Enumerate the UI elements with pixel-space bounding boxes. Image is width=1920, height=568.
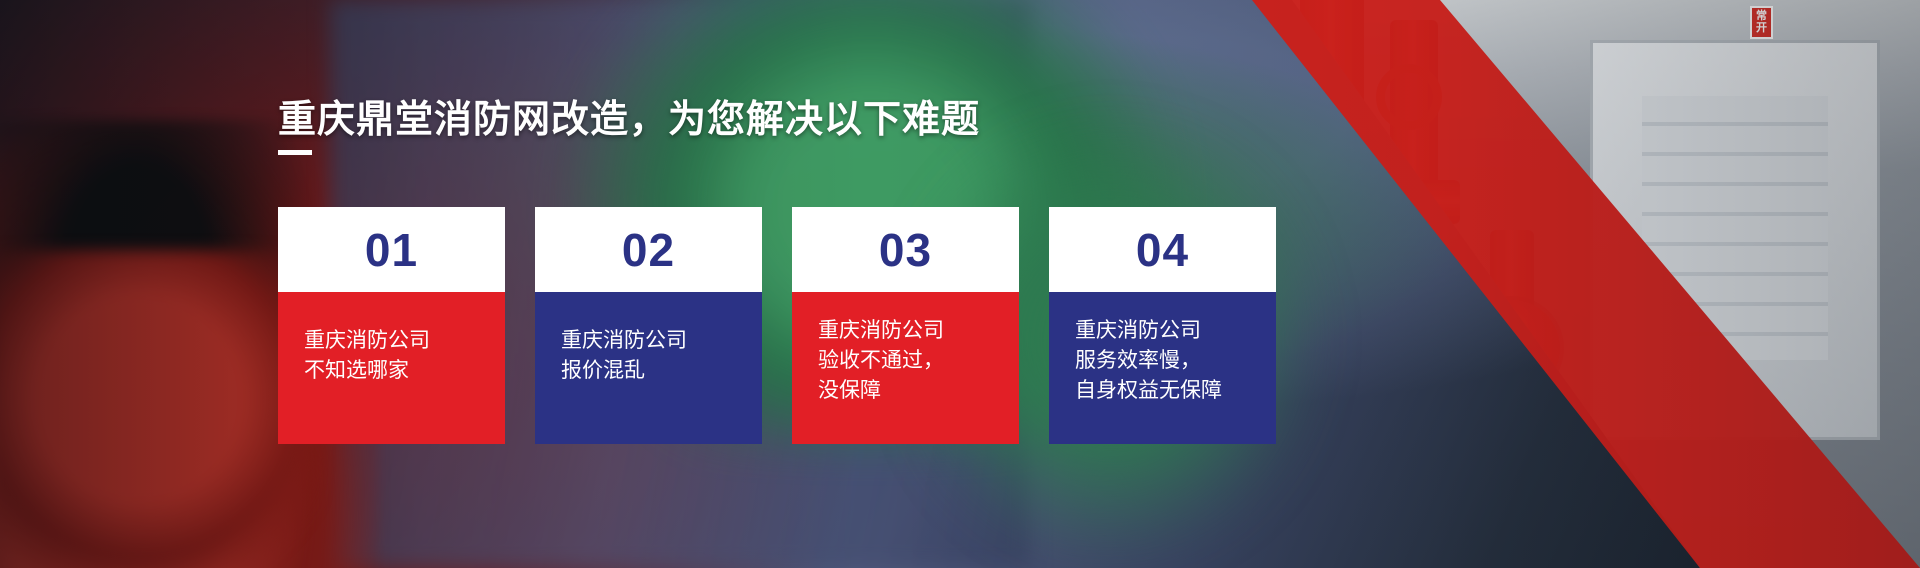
problem-card-number: 02 — [622, 223, 675, 277]
problem-card-line: 重庆消防公司 — [1075, 316, 1250, 346]
promo-banner: 常开 常闭 常闭 重庆鼎堂消防网改造，为您解决以下难题 01 重庆消防公司 不知… — [0, 0, 1920, 568]
problem-card-body: 重庆消防公司 验收不通过， 没保障 — [792, 292, 1019, 444]
problem-card-line: 重庆消防公司 — [818, 316, 993, 346]
problem-card-header: 02 — [535, 207, 762, 292]
problem-card-body: 重庆消防公司 不知选哪家 — [278, 292, 505, 444]
problem-card-line: 验收不通过， — [818, 346, 993, 376]
problem-card-line: 没保障 — [818, 376, 993, 406]
problem-card-number: 04 — [1136, 223, 1189, 277]
problem-card-body: 重庆消防公司 报价混乱 — [535, 292, 762, 444]
problem-card-list: 01 重庆消防公司 不知选哪家 02 重庆消防公司 报价混乱 03 — [278, 207, 1276, 444]
problem-card-line: 服务效率慢， — [1075, 346, 1250, 376]
problem-card-header: 03 — [792, 207, 1019, 292]
problem-card-line: 报价混乱 — [561, 356, 736, 386]
problem-card[interactable]: 04 重庆消防公司 服务效率慢， 自身权益无保障 — [1049, 207, 1276, 444]
problem-card-line: 重庆消防公司 — [561, 326, 736, 356]
problem-card-number: 03 — [879, 223, 932, 277]
headline-underline-rule — [278, 150, 312, 155]
problem-card-line: 不知选哪家 — [304, 356, 479, 386]
problem-card-header: 04 — [1049, 207, 1276, 292]
problem-card[interactable]: 02 重庆消防公司 报价混乱 — [535, 207, 762, 444]
banner-content: 重庆鼎堂消防网改造，为您解决以下难题 01 重庆消防公司 不知选哪家 02 重庆… — [0, 0, 1920, 568]
problem-card-body: 重庆消防公司 服务效率慢， 自身权益无保障 — [1049, 292, 1276, 444]
problem-card-header: 01 — [278, 207, 505, 292]
problem-card[interactable]: 03 重庆消防公司 验收不通过， 没保障 — [792, 207, 1019, 444]
problem-card-line: 重庆消防公司 — [304, 326, 479, 356]
problem-card[interactable]: 01 重庆消防公司 不知选哪家 — [278, 207, 505, 444]
banner-headline: 重庆鼎堂消防网改造，为您解决以下难题 — [278, 88, 980, 143]
problem-card-number: 01 — [365, 223, 418, 277]
problem-card-line: 自身权益无保障 — [1075, 376, 1250, 406]
